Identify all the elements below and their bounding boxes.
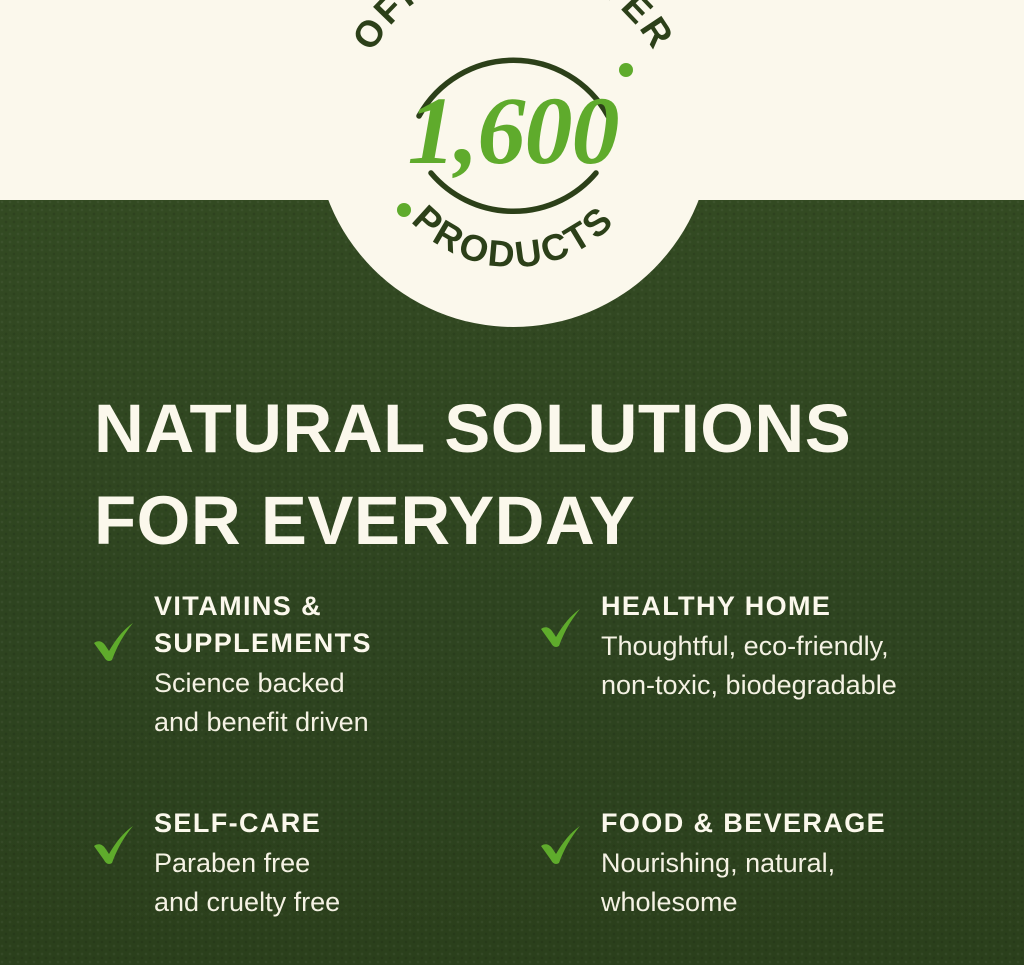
promo-poster: OFFERING OVER PRODUCTS 1,600 NATURAL SOL… [0, 0, 1024, 965]
feature-text-block: SELF-CARE Paraben free and cruelty free [154, 805, 537, 923]
check-icon [537, 604, 585, 652]
feature-text-block: FOOD & BEVERAGE Nourishing, natural, who… [601, 805, 995, 923]
badge-top-arc-textpath: OFFERING OVER [344, 0, 682, 57]
check-icon [90, 821, 138, 869]
headline-line-2: FOR EVERYDAY [94, 475, 974, 567]
feature-text-block: VITAMINS & SUPPLEMENTS Science backed an… [154, 588, 537, 743]
badge-top-arc-label: OFFERING OVER [344, 0, 682, 57]
headline-line-1: NATURAL SOLUTIONS [94, 383, 974, 475]
feature-text-block: HEALTHY HOME Thoughtful, eco-friendly, n… [601, 588, 995, 706]
feature-title: VITAMINS & SUPPLEMENTS [154, 588, 537, 662]
feature-description: Thoughtful, eco-friendly, non-toxic, bio… [601, 627, 995, 706]
feature-title: HEALTHY HOME [601, 588, 995, 625]
feature-title: FOOD & BEVERAGE [601, 805, 995, 842]
feature-item-healthy-home: HEALTHY HOME Thoughtful, eco-friendly, n… [537, 588, 995, 743]
feature-item-self-care: SELF-CARE Paraben free and cruelty free [90, 805, 537, 923]
feature-item-food-beverage: FOOD & BEVERAGE Nourishing, natural, who… [537, 805, 995, 923]
feature-description: Science backed and benefit driven [154, 664, 537, 743]
badge-seal-icon: OFFERING OVER PRODUCTS 1,600 [315, 0, 712, 327]
badge-dot-right [619, 63, 633, 77]
offering-badge: OFFERING OVER PRODUCTS 1,600 [315, 0, 712, 327]
feature-description: Nourishing, natural, wholesome [601, 844, 995, 923]
check-icon [90, 618, 138, 666]
badge-dot-left [397, 203, 411, 217]
badge-number-label: 1,600 [408, 77, 619, 184]
feature-description: Paraben free and cruelty free [154, 844, 537, 923]
check-icon [537, 821, 585, 869]
feature-title: SELF-CARE [154, 805, 537, 842]
feature-item-vitamins-supplements: VITAMINS & SUPPLEMENTS Science backed an… [90, 588, 537, 743]
feature-list: VITAMINS & SUPPLEMENTS Science backed an… [90, 588, 995, 923]
page-title: NATURAL SOLUTIONS FOR EVERYDAY [94, 383, 974, 567]
